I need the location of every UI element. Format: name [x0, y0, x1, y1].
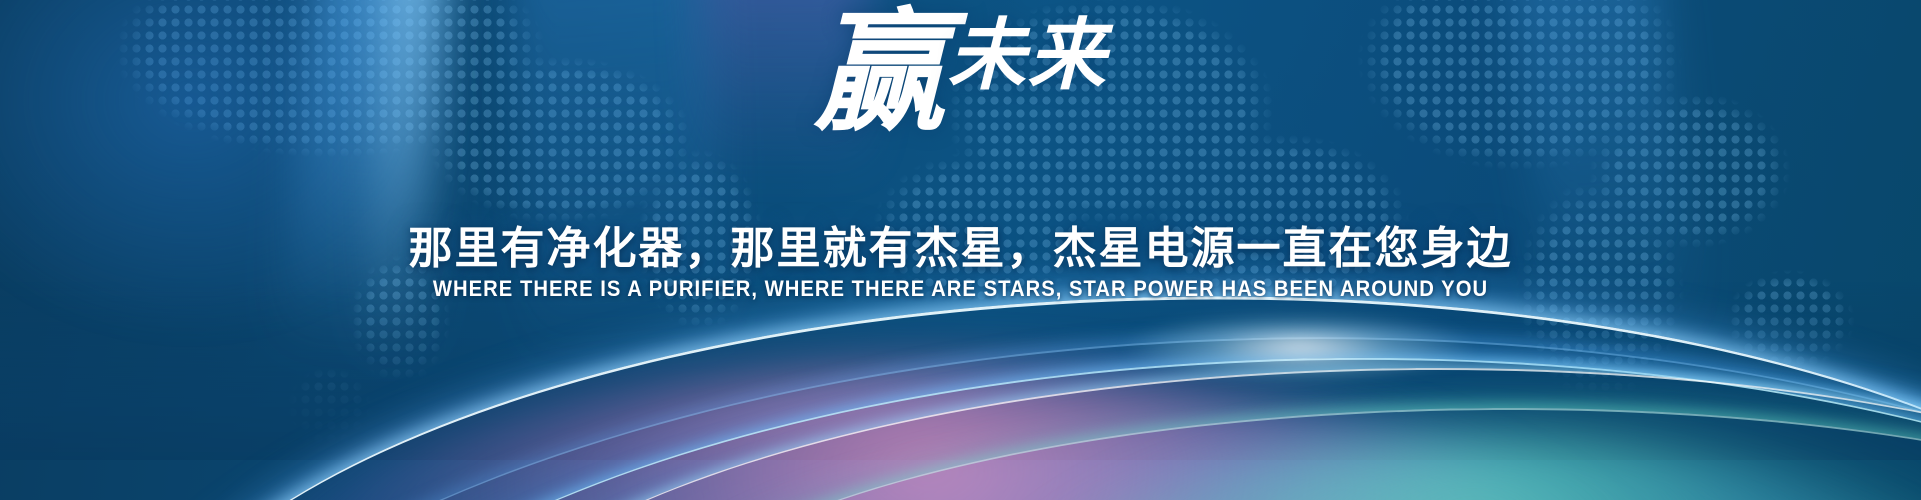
headline-english: WHERE THERE IS A PURIFIER, WHERE THERE A…: [77, 276, 1844, 302]
calligraphy-secondary-characters: 未来: [947, 12, 1107, 99]
headline-chinese: 那里有净化器，那里就有杰星，杰星电源一直在您身边: [0, 212, 1921, 276]
promotional-banner: 赢未来 那里有净化器，那里就有杰星，杰星电源一直在您身边 WHERE THERE…: [0, 0, 1921, 500]
calligraphy-primary-character: 赢: [813, 0, 941, 147]
banner-content: 赢未来 那里有净化器，那里就有杰星，杰星电源一直在您身边 WHERE THERE…: [0, 0, 1921, 500]
calligraphy-title: 赢未来: [0, 8, 1921, 140]
